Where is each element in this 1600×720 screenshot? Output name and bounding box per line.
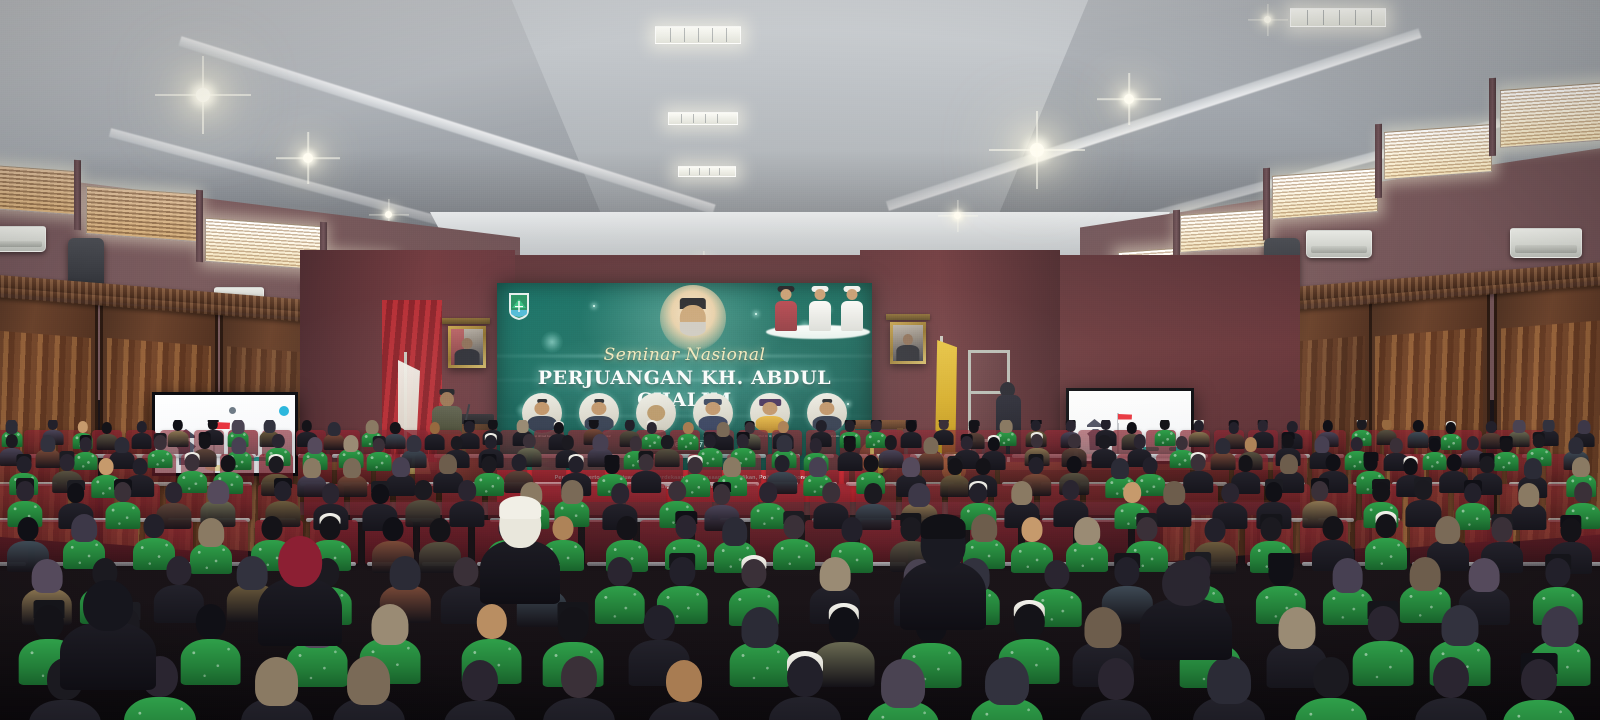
portrait-head [462, 338, 473, 349]
audience-member [444, 660, 516, 720]
audience-head [759, 482, 777, 502]
audience-clothing [60, 622, 156, 690]
window-blind [1385, 125, 1491, 179]
audience-clothing [29, 700, 101, 720]
audience-head [1098, 435, 1110, 449]
audience-head [102, 422, 112, 434]
hijab [881, 659, 925, 708]
audience-head [165, 482, 183, 502]
hijab [722, 517, 748, 545]
audience-member [971, 657, 1043, 720]
portrait-plaque [886, 314, 930, 320]
hijab [1011, 481, 1032, 505]
audience-head [842, 517, 863, 541]
audience-head [1533, 434, 1545, 448]
hijab [1441, 605, 1478, 646]
audience-head [1428, 438, 1440, 452]
fluorescent-troffer [655, 26, 741, 44]
audience-head [136, 421, 146, 433]
audience-head [704, 434, 716, 448]
audience-head [778, 421, 788, 433]
window-mullion [1263, 168, 1270, 240]
audience-head [1031, 420, 1041, 431]
audience-head [885, 435, 897, 449]
hijab [1314, 436, 1329, 453]
audience-head [1123, 482, 1141, 502]
audience-head [676, 515, 697, 539]
hijab [1280, 454, 1298, 474]
hijab [1572, 457, 1590, 477]
audience-head [1176, 436, 1188, 450]
audience-head [844, 438, 856, 452]
clerestory-window [1384, 124, 1492, 180]
hijab [1000, 420, 1013, 433]
audience-head [1098, 658, 1134, 699]
hijab [390, 556, 421, 590]
audience-clothing [543, 698, 615, 720]
hijab [371, 604, 408, 645]
audience-head [1068, 434, 1080, 448]
audience-member [1503, 659, 1575, 720]
green-batik-uniform [1295, 698, 1367, 720]
audience-head [829, 607, 859, 642]
audience-head [464, 421, 474, 433]
audience-head [487, 420, 497, 430]
audience-head [1480, 456, 1495, 473]
audience-head [611, 483, 629, 503]
audience-head [1560, 518, 1581, 542]
audience-member [1080, 658, 1152, 720]
audience-head [1160, 420, 1170, 430]
audience-head [18, 517, 39, 541]
official-head [815, 289, 826, 300]
audience-head [1390, 438, 1402, 452]
audience-head [278, 536, 322, 587]
audience-head [390, 422, 400, 434]
audience-head [302, 420, 312, 432]
audience-head [322, 483, 340, 503]
audience-head [688, 457, 703, 474]
split-air-conditioner [0, 226, 46, 252]
audience-head [1029, 457, 1044, 474]
clerestory-window [86, 186, 198, 242]
audience-head [713, 484, 731, 504]
hijab [723, 457, 741, 477]
audience-head [1101, 420, 1111, 430]
hijab [902, 457, 920, 477]
audience-head [1446, 454, 1461, 471]
hijab [809, 457, 827, 477]
audience-head [1194, 420, 1204, 432]
hijab [593, 434, 608, 451]
audience-head [482, 456, 497, 473]
audience-head [198, 434, 210, 448]
audience-head [1446, 422, 1456, 434]
audience-head [1492, 517, 1513, 541]
window-mullion [74, 160, 81, 230]
audience-head [569, 456, 584, 473]
audience-head [1521, 659, 1557, 700]
audience-head [970, 483, 988, 503]
audience-head [132, 458, 147, 475]
audience-head [624, 420, 634, 431]
audience-head [451, 436, 463, 450]
hijab [231, 420, 244, 434]
audience-head [947, 458, 962, 475]
audience-head [961, 436, 973, 450]
audience-head [783, 515, 804, 539]
portrait-image [451, 329, 483, 365]
slide-icon [229, 407, 236, 414]
audience-head [430, 518, 451, 542]
hijab [1085, 607, 1122, 648]
audience-member [1295, 657, 1367, 720]
hijab [407, 435, 422, 452]
window-mullion [196, 190, 203, 262]
audience-head [1313, 657, 1349, 698]
official-head [847, 289, 858, 300]
hijab [31, 559, 62, 593]
audience-head [775, 455, 790, 472]
audience-clothing [900, 561, 986, 630]
audience-head [647, 422, 657, 434]
official-body [809, 301, 831, 331]
audience-clothing [1140, 598, 1232, 660]
hijab [1541, 606, 1578, 647]
audience-head [938, 420, 948, 430]
window-mullion [1375, 124, 1382, 198]
portrait-image [893, 325, 923, 361]
hijab [439, 454, 457, 474]
audience-head [845, 420, 855, 432]
hijab [347, 656, 391, 705]
audience-head [1351, 437, 1363, 451]
audience-head [1062, 480, 1080, 500]
audience-head [1065, 420, 1075, 432]
hijab [41, 435, 56, 452]
audience-head [906, 420, 916, 432]
audience-head [975, 458, 990, 475]
audience-head [1258, 420, 1268, 432]
audience-clothing [648, 702, 720, 720]
audience-head [1133, 434, 1145, 448]
hijab [1278, 607, 1315, 648]
audience-head [1044, 560, 1069, 589]
audience-head [683, 422, 693, 434]
audience-clothing [444, 701, 516, 720]
audience-head [429, 422, 439, 434]
hijab [263, 420, 276, 433]
audience-head [639, 454, 654, 471]
hijab [392, 457, 410, 477]
audience-head [414, 480, 432, 500]
audience-member [648, 660, 720, 720]
audience-head [1162, 560, 1210, 606]
cap [499, 496, 541, 519]
audience-head [1268, 557, 1293, 586]
hijab [255, 657, 299, 706]
hijab [1435, 516, 1461, 544]
audience-clothing [1080, 700, 1152, 720]
slide-accent-dot [279, 406, 289, 416]
audience-head [1191, 454, 1206, 471]
audience-head [1415, 480, 1433, 500]
audience-head [154, 435, 166, 449]
audience-head [1363, 454, 1378, 471]
audience-head [561, 656, 597, 697]
portrait-beard [680, 322, 706, 337]
audience-head [810, 438, 822, 452]
audience-member [241, 657, 313, 720]
audience-head [185, 454, 200, 471]
audience-head [1126, 422, 1136, 434]
official-head [781, 289, 792, 300]
audience-member [678, 422, 699, 450]
hijab [1524, 458, 1542, 478]
hijab [1163, 481, 1184, 505]
audience-head [1467, 436, 1479, 450]
audience-head [166, 556, 191, 585]
audience-head [1372, 482, 1390, 502]
audience-member [424, 422, 445, 450]
audience-head [1433, 657, 1469, 698]
audience-head [1265, 482, 1283, 502]
audience-head [1261, 517, 1282, 541]
hijab [1111, 458, 1129, 478]
hijab [741, 607, 778, 648]
officials-group [770, 285, 868, 341]
audience-head [272, 434, 284, 448]
audience-head [644, 605, 674, 640]
audience-head [588, 420, 598, 429]
audience-head [382, 517, 403, 541]
audience-head [871, 420, 881, 432]
audience-head [1238, 455, 1253, 472]
audience-head [1204, 518, 1225, 542]
hijab [1518, 483, 1539, 507]
audience-head [987, 437, 999, 451]
clerestory-window [0, 165, 76, 215]
audience-clothing [1415, 698, 1487, 720]
audience-head [173, 420, 183, 431]
audience-head [617, 516, 638, 540]
audience-head [208, 420, 218, 430]
portrait-body [455, 349, 480, 365]
hijab [5, 420, 18, 434]
recessed-downlight [954, 212, 961, 219]
audience-member [1193, 656, 1265, 720]
hijab [1074, 517, 1100, 545]
audience-head [1413, 420, 1423, 432]
audience-head [666, 660, 702, 701]
audience-head [1326, 454, 1341, 471]
hijab [985, 657, 1029, 706]
green-batik-uniform [678, 434, 699, 450]
hijab [1216, 438, 1231, 455]
audience-head [269, 456, 284, 473]
audience-head [1067, 456, 1082, 473]
audience-head [373, 438, 385, 452]
audience-head [822, 482, 840, 502]
audience-head [1545, 558, 1570, 587]
official-red-batik [774, 289, 798, 331]
audience-head [1356, 420, 1366, 430]
audience-head [1376, 514, 1397, 538]
audience-member-foreground [60, 580, 156, 690]
audience-head [60, 454, 75, 471]
audience-member [1415, 657, 1487, 720]
audience-head [1221, 483, 1239, 503]
hijab [71, 514, 97, 542]
audience-head [741, 559, 766, 588]
audience-head [863, 455, 878, 472]
audience-head [1322, 516, 1343, 540]
audience-head [1014, 604, 1044, 639]
regency-shield-emblem-icon [507, 291, 531, 321]
seminar-hall-photo: Seminar Nasional PERJUANGAN KH. ABDUL CH… [0, 0, 1600, 720]
window-blind [0, 166, 75, 214]
presenter-head [440, 392, 454, 407]
audience-head [67, 483, 85, 503]
audience-head [195, 604, 225, 639]
audience-head [1464, 483, 1482, 503]
green-batik-uniform [124, 697, 196, 720]
banner-script-title: Seminar Nasional [497, 345, 872, 365]
hijab [1513, 420, 1526, 433]
hijab [1207, 656, 1251, 705]
audience-head [458, 480, 476, 500]
hijab [1332, 558, 1363, 592]
audience-head [453, 557, 478, 586]
hijab [777, 435, 792, 452]
audience-member-white-cap [480, 500, 560, 604]
audience-head [629, 436, 641, 450]
president-portrait [448, 326, 486, 368]
audience-head [787, 656, 823, 697]
official-white-uniform-1 [808, 289, 832, 331]
audience-head [274, 481, 292, 501]
audience-head [1311, 481, 1329, 501]
audience-head [661, 435, 673, 449]
audience-member-black-cap [900, 518, 986, 630]
cap [921, 514, 966, 539]
fluorescent-troffer [678, 166, 736, 177]
hijab [308, 437, 323, 454]
audience-head [79, 437, 91, 451]
clerestory-window [1500, 82, 1600, 148]
audience-head [1381, 420, 1391, 430]
audience-head [605, 457, 620, 474]
audience-head [1486, 421, 1496, 433]
audience-head [511, 454, 526, 471]
audience-head [969, 421, 979, 433]
audience-head [1282, 434, 1294, 448]
audience-head [1115, 557, 1140, 586]
official-body [775, 301, 797, 331]
kh-abdul-chalim-portrait [660, 285, 726, 351]
audience-head [1143, 457, 1158, 474]
vice-president-portrait [890, 322, 926, 364]
audience-area [0, 420, 1600, 720]
audience-head [1021, 517, 1042, 541]
official-white-uniform-2 [840, 289, 864, 331]
portrait-body [896, 345, 919, 361]
hijab [343, 435, 358, 452]
hijab [1410, 557, 1441, 591]
audience-head [737, 434, 749, 448]
recessed-downlight [1030, 143, 1044, 157]
audience-head [1323, 420, 1333, 432]
clerestory-window [1272, 168, 1378, 220]
audience-head [523, 434, 535, 448]
hijab [207, 480, 228, 504]
hijab [819, 557, 850, 591]
audience-head [221, 455, 236, 472]
hijab [115, 437, 130, 454]
audience-head [1244, 437, 1256, 451]
audience-clothing [258, 578, 342, 646]
audience-head [476, 604, 506, 639]
audience-head [371, 484, 389, 504]
audience-head [16, 456, 31, 473]
portrait-head [903, 334, 913, 345]
green-batik-uniform [1503, 700, 1575, 720]
audience-head [77, 421, 87, 433]
audience-head [485, 435, 497, 449]
audience-member-red-hijab [258, 536, 342, 646]
hijab [1469, 558, 1500, 592]
audience-head [1574, 482, 1592, 502]
audience-head [816, 420, 826, 432]
hijab [909, 483, 930, 507]
audience-head [558, 607, 588, 642]
audience-clothing [769, 697, 841, 720]
audience-head [48, 420, 58, 430]
portrait-plaque [442, 318, 490, 324]
hijab [1578, 420, 1591, 434]
audience-head [5, 434, 17, 448]
audience-clothing [424, 434, 445, 450]
hijab [198, 518, 224, 546]
audience-head [1229, 422, 1239, 434]
audience-head [1368, 606, 1398, 641]
audience-head [1031, 434, 1043, 448]
audience-head [561, 435, 573, 449]
hijab [561, 480, 582, 504]
audience-head [668, 481, 686, 501]
audience-head [83, 580, 133, 631]
audience-head [607, 557, 632, 586]
audience-member [543, 656, 615, 720]
hijab [516, 420, 529, 433]
split-air-conditioner [1306, 230, 1372, 258]
audience-head [553, 422, 563, 434]
hijab [366, 420, 379, 434]
audience-head [1500, 438, 1512, 452]
hijab [924, 437, 939, 454]
hijab [1542, 420, 1555, 432]
audience-head [99, 458, 114, 475]
audience-head [865, 483, 883, 503]
hijab [343, 458, 361, 478]
audience-head [1136, 517, 1157, 541]
window-blind [1273, 169, 1377, 219]
audience-member-foreground [1140, 560, 1232, 660]
window-blind [1181, 210, 1265, 252]
audience-clothing [480, 540, 560, 604]
official-body [841, 301, 863, 331]
window-blind [87, 187, 197, 241]
